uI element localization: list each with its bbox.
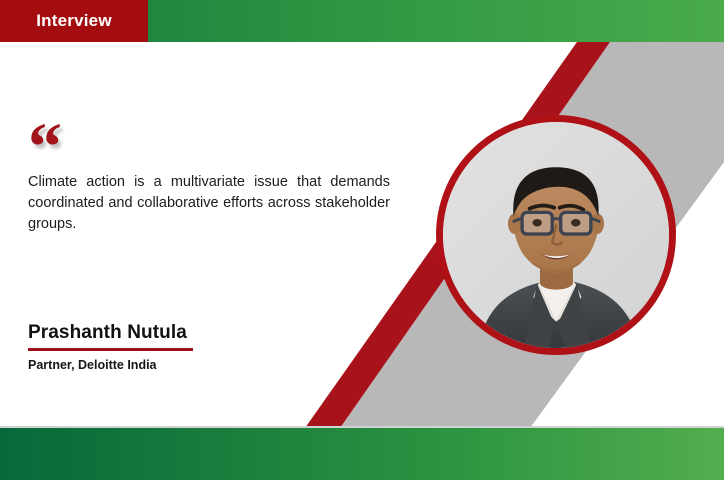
person-role: Partner, Deloitte India [28, 358, 157, 372]
interview-quote-card: Interview [0, 0, 724, 480]
quote-mark-icon: “ [28, 112, 60, 180]
person-name: Prashanth Nutula [28, 322, 187, 344]
quote-text-value: Climate action is a multivariate issue t… [28, 174, 390, 232]
header-tab-label: Interview [36, 11, 112, 31]
quote-text: Climate action is a multivariate issue t… [28, 172, 390, 235]
name-underline-rule [28, 348, 193, 351]
portrait-photo [443, 122, 669, 348]
footer-bar [0, 428, 724, 480]
header-category-tab: Interview [0, 0, 148, 42]
avatar [436, 115, 676, 355]
